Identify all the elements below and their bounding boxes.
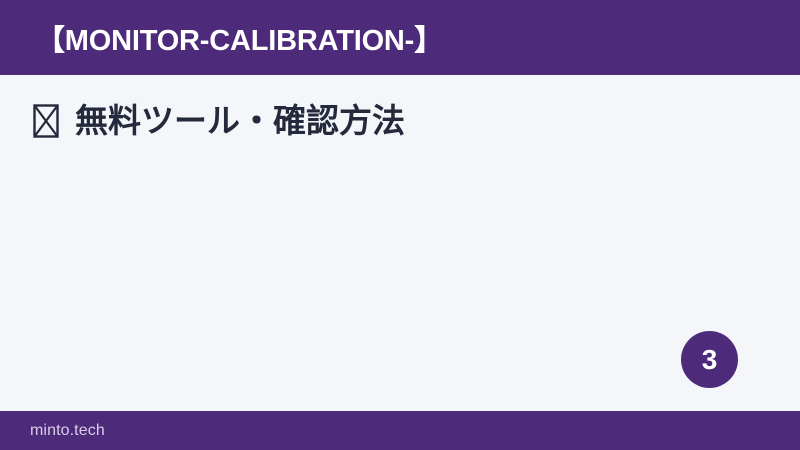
page-number-label: 3 <box>702 346 718 374</box>
header-bar: 【MONITOR-CALIBRATION-】 <box>0 0 800 75</box>
page-number-badge: 3 <box>681 331 738 388</box>
bullet-item-label: 無料ツール・確認方法 <box>75 101 405 141</box>
footer-bar: minto.tech <box>0 411 800 450</box>
slide-body: 無料ツール・確認方法 <box>0 75 800 411</box>
slide: 【MONITOR-CALIBRATION-】 無料ツール・確認方法 3 mint… <box>0 0 800 450</box>
brand-label: minto.tech <box>30 411 105 450</box>
bullet-item: 無料ツール・確認方法 <box>33 101 405 141</box>
missing-glyph-box-icon <box>33 104 59 138</box>
page-title: 【MONITOR-CALIBRATION-】 <box>36 0 443 75</box>
